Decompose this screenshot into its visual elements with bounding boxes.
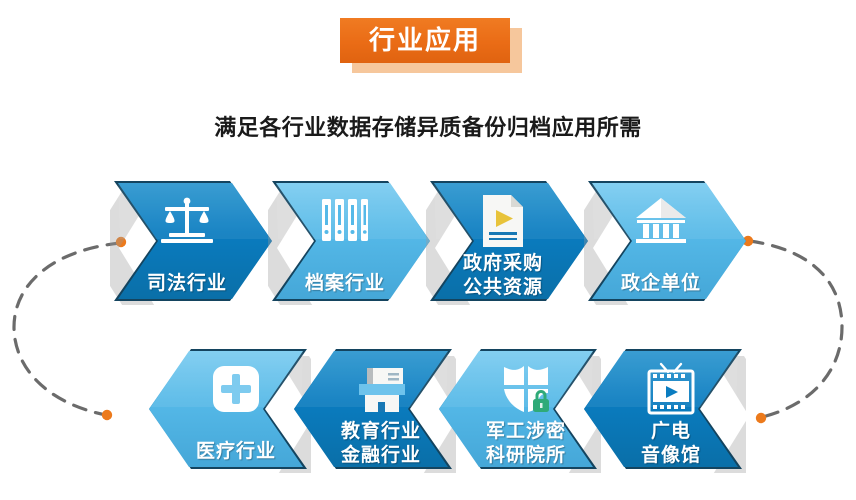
chevron-shape: [110, 177, 276, 305]
page-subtitle: 满足各行业数据存储异质备份归档应用所需: [0, 110, 856, 142]
left-arc-dashed-path: [14, 243, 120, 415]
chevron-guangdian-yinxiangguan[interactable]: 广电 音像馆: [580, 345, 746, 473]
chevron-shape: [584, 177, 750, 305]
chevron-shape: [426, 177, 592, 305]
chevron-shape: [435, 345, 601, 473]
chevron-shape: [580, 345, 746, 473]
chevron-dangan-hangye[interactable]: 档案行业: [268, 177, 434, 305]
industry-application-infographic: 行业应用 满足各行业数据存储异质备份归档应用所需: [0, 0, 856, 500]
chevron-shape: [290, 345, 456, 473]
title-badge-fill: 行业应用: [340, 18, 510, 63]
chevron-zhengqi-danwei[interactable]: 政企单位: [584, 177, 750, 305]
chevron-shape: [268, 177, 434, 305]
right-arc-dashed-path: [750, 241, 842, 418]
page-title-badge: 行业应用: [340, 18, 520, 73]
chevron-sifa-hangye[interactable]: 司法行业: [110, 177, 276, 305]
right-arc-bottom-orange-dot: [756, 413, 766, 423]
chevron-shape: [145, 345, 311, 473]
chevron-yiliao-hangye[interactable]: 医疗行业: [145, 345, 311, 473]
page-title: 行业应用: [369, 28, 481, 54]
chevron-jungong-sheimi[interactable]: 军工涉密 科研院所: [435, 345, 601, 473]
left-arc-bottom-orange-dot: [102, 410, 112, 420]
chevron-jiaoyu-jinrong[interactable]: 教育行业 金融行业: [290, 345, 456, 473]
chevron-zhengfu-caigou[interactable]: 政府采购 公共资源: [426, 177, 592, 305]
